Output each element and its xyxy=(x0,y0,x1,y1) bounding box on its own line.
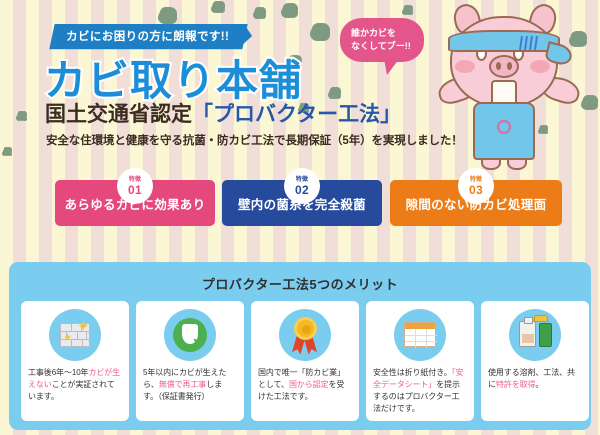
speech-bubble: 誰かカビを なくしてブー!! xyxy=(340,18,424,62)
mold-spot xyxy=(404,6,412,14)
merit-card-1[interactable]: ✦ ✦ 工事後6年～10年カビが生えないことが実証されています。 xyxy=(21,301,129,421)
merit-text-2: 5年以内にカビが生えたら、無償で再工事します。（保証書発行） xyxy=(143,367,237,403)
badge-label: 特徴 xyxy=(129,177,142,183)
merit-text-part: 安全性は折り紙付き。 xyxy=(373,368,452,377)
mold-spot xyxy=(4,148,11,155)
mold-spot xyxy=(255,8,265,18)
feature-box-3[interactable]: 特徴 03 隙間のない防カビ処理面 xyxy=(390,180,562,226)
ribbon-text: カビにお困りの方に朗報です!! xyxy=(66,28,229,44)
spray-nozzle xyxy=(534,315,548,322)
green-shield-check-icon xyxy=(164,309,216,361)
merit-text-4: 安全性は折り紙付き。「安全データシート」を提示するのはプロバクター工法だけです。 xyxy=(373,367,467,415)
feature-badge-2: 特徴 02 xyxy=(284,168,320,204)
merit-text-5: 使用する溶剤、工法、共に特許を取得。 xyxy=(488,367,582,391)
merits-title: プロバクター工法5つのメリット xyxy=(9,262,591,293)
feature-badge-3: 特徴 03 xyxy=(458,168,494,204)
shield-shape xyxy=(182,324,198,344)
mold-spot xyxy=(583,96,597,109)
sparkle-icon: ✦ xyxy=(77,319,90,334)
mold-spot xyxy=(283,4,297,17)
sparkle-icon: ✦ xyxy=(63,333,72,344)
pig-nostril-left-icon xyxy=(496,62,501,70)
feature-badge-1: 特徴 01 xyxy=(117,168,153,204)
badge-label: 特徴 xyxy=(470,177,483,183)
badge-number: 02 xyxy=(295,184,309,196)
gold-medal-icon xyxy=(279,309,331,361)
subtitle-plain: 国土交通省認定 xyxy=(45,103,192,126)
badge-label: 特徴 xyxy=(296,177,309,183)
badge-number: 01 xyxy=(128,184,142,196)
mold-spot xyxy=(330,88,340,98)
mold-spot xyxy=(213,2,224,12)
pig-nostril-right-icon xyxy=(507,62,512,70)
pig-cheek-left-icon xyxy=(455,60,475,73)
brick-wall-sparkle-icon: ✦ ✦ xyxy=(49,309,101,361)
merit-text-highlight: 国から認定 xyxy=(289,380,329,389)
badge-number: 03 xyxy=(469,184,483,196)
apron-logo-icon xyxy=(497,120,511,134)
merit-card-2[interactable]: 5年以内にカビが生えたら、無償で再工事します。（保証書発行） xyxy=(136,301,244,421)
check-mark-icon xyxy=(194,334,204,344)
lead-text: 安全な住環境と健康を守る抗菌・防カビ工法で長期保証（5年）を実現しました！ xyxy=(46,132,463,148)
mold-spot xyxy=(18,112,26,120)
merit-card-3[interactable]: 国内で唯一「防カビ業」として、国から認定を受けた工法です。 xyxy=(251,301,359,421)
pig-snout-icon xyxy=(489,55,519,78)
sheet-shape xyxy=(404,322,436,347)
shield-circle xyxy=(173,318,207,352)
feature-box-1[interactable]: 特徴 01 あらゆるカビに効果あり xyxy=(55,180,215,226)
bubble-line-2: なくしてブー!! xyxy=(351,40,424,53)
medal-disc xyxy=(294,317,317,340)
merit-text-highlight: 無償で再工事 xyxy=(159,380,206,389)
pig-mascot xyxy=(434,2,584,167)
merit-text-highlight: 特許を取得 xyxy=(496,380,536,389)
solvent-bottle-shape xyxy=(519,321,536,347)
feature-box-2[interactable]: 特徴 02 壁内の菌糸を完全殺菌 xyxy=(222,180,382,226)
feature-box-list: 特徴 01 あらゆるカビに効果あり 特徴 02 壁内の菌糸を完全殺菌 特徴 03… xyxy=(0,170,600,232)
mold-spot xyxy=(312,24,329,40)
spray-bottle-shape xyxy=(539,323,552,347)
merit-card-list: ✦ ✦ 工事後6年～10年カビが生えないことが実証されています。 5年以内にカビ… xyxy=(21,301,589,421)
subtitle: 国土交通省認定「プロバクター工法」 xyxy=(45,98,401,128)
merit-text-3: 国内で唯一「防カビ業」として、国から認定を受けた工法です。 xyxy=(258,367,352,403)
subtitle-highlight: 「プロバクター工法」 xyxy=(192,103,401,126)
bottle-label xyxy=(522,334,534,343)
merit-text-part: 工事後6年～10年 xyxy=(28,368,88,377)
merit-card-5[interactable]: 使用する溶剤、工法、共に特許を取得。 xyxy=(481,301,589,421)
announcement-ribbon: カビにお困りの方に朗報です!! xyxy=(49,24,247,49)
solvent-spray-bottle-icon xyxy=(509,309,561,361)
bubble-line-1: 誰かカビを xyxy=(351,27,424,40)
merit-card-4[interactable]: 安全性は折り紙付き。「安全データシート」を提示するのはプロバクター工法だけです。 xyxy=(366,301,474,421)
pig-cheek-right-icon xyxy=(530,60,550,73)
pig-headband-icon xyxy=(448,30,560,52)
merit-text-1: 工事後6年～10年カビが生えないことが実証されています。 xyxy=(28,367,122,403)
mold-spot xyxy=(160,8,176,23)
data-sheet-icon xyxy=(394,309,446,361)
merit-text-part: 。 xyxy=(535,380,543,389)
sheet-header xyxy=(405,323,435,329)
merits-panel: プロバクター工法5つのメリット ✦ ✦ 工事後6年～10年 xyxy=(9,262,591,430)
